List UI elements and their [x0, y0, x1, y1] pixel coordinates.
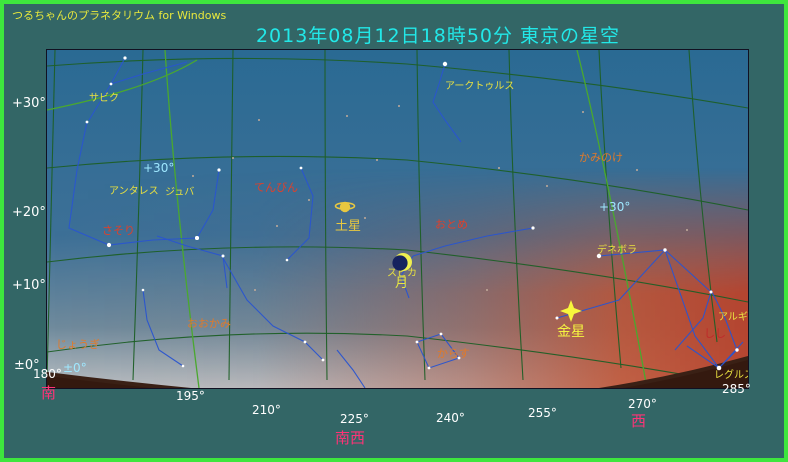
- constellation-label-corvus: からす: [437, 347, 470, 360]
- altitude-tick-plus10: +10°: [12, 278, 46, 293]
- venus-label: 金星: [557, 324, 585, 340]
- grid-label-plus30-right: +30°: [599, 200, 630, 214]
- direction-label-southwest: 南西: [335, 427, 365, 448]
- azimuth-tick-285: 285°: [722, 382, 751, 396]
- star-label-antares: アンタレス: [109, 185, 159, 197]
- grid-label-plus30-left: +30°: [143, 161, 174, 175]
- constellation-label-lupus: おおかみ: [187, 317, 231, 330]
- azimuth-tick-195: 195°: [176, 389, 205, 403]
- planetarium-window: つるちゃんのプラネタリウム for Windows 2013年08月12日18時…: [0, 0, 788, 462]
- star-label-algieba: アルギエバ: [718, 311, 748, 323]
- direction-label-south: 南: [41, 382, 56, 403]
- moon-label: 月: [395, 276, 408, 291]
- star-label-denebola: デネボラ: [597, 243, 637, 256]
- constellation-label-coma: かみのけ: [579, 151, 623, 164]
- direction-label-west: 西: [631, 410, 646, 431]
- constellation-label-leo: しし: [704, 327, 726, 340]
- constellation-label-libra: てんびん: [254, 181, 298, 194]
- star-label-regulus: レグルス: [714, 368, 748, 381]
- constellation-label-norma: じょうぎ: [56, 337, 100, 351]
- grid-label-zero: ±0°: [63, 361, 87, 375]
- constellation-label-virgo: おとめ: [435, 218, 468, 231]
- azimuth-tick-180: 180°: [33, 367, 62, 381]
- star-label-sabik: サビク: [89, 92, 119, 104]
- constellation-label-scorpius: さそり: [102, 224, 135, 237]
- star-label-arcturus: アークトゥルス: [445, 80, 514, 92]
- altitude-tick-plus20: +20°: [12, 205, 46, 220]
- sky-chart-area[interactable]: +30° +30° ±0° さそり てんびん おとめ しし じょうぎ おおかみ …: [46, 49, 749, 389]
- azimuth-tick-255: 255°: [528, 406, 557, 420]
- azimuth-tick-225: 225°: [340, 412, 369, 426]
- sky-chart-title: 2013年08月12日18時50分 東京の星空: [4, 21, 788, 48]
- saturn-label: 土星: [335, 219, 361, 234]
- sunset-glow: [47, 50, 748, 388]
- azimuth-tick-240: 240°: [436, 411, 465, 425]
- azimuth-tick-210: 210°: [252, 403, 281, 417]
- altitude-tick-plus30: +30°: [12, 96, 46, 111]
- star-label-dschubba: ジュバ: [165, 186, 194, 198]
- azimuth-tick-270: 270°: [628, 397, 657, 411]
